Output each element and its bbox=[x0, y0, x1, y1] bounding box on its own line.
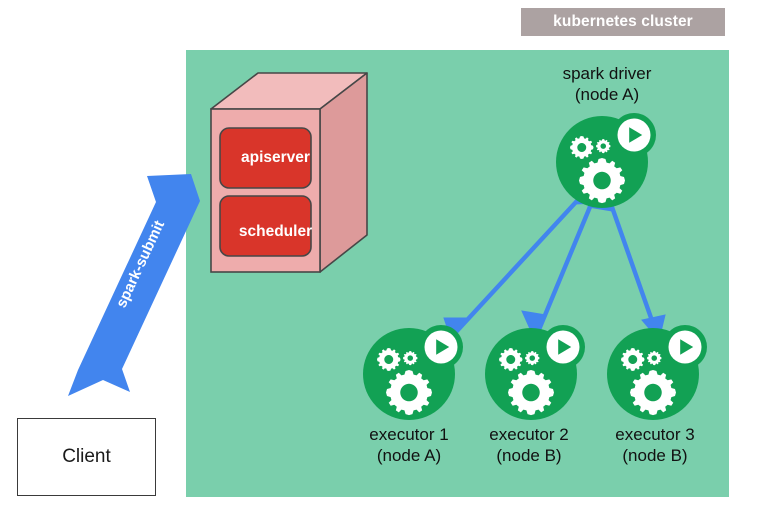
client-box: Client bbox=[17, 418, 156, 496]
client-label: Client bbox=[62, 446, 111, 468]
executor-1-caption: executor 1 (node A) bbox=[346, 424, 472, 466]
kubernetes-cluster-badge: kubernetes cluster bbox=[521, 8, 725, 36]
executor-2-caption: executor 2 (node B) bbox=[466, 424, 592, 466]
executor-3-caption: executor 3 (node B) bbox=[592, 424, 718, 466]
scheduler-label: scheduler bbox=[218, 208, 333, 256]
diagram-canvas: kubernetes cluster apiserver scheduler s… bbox=[0, 0, 761, 516]
apiserver-label: apiserver bbox=[218, 134, 333, 182]
spark-driver-caption: spark driver (node A) bbox=[524, 63, 690, 105]
